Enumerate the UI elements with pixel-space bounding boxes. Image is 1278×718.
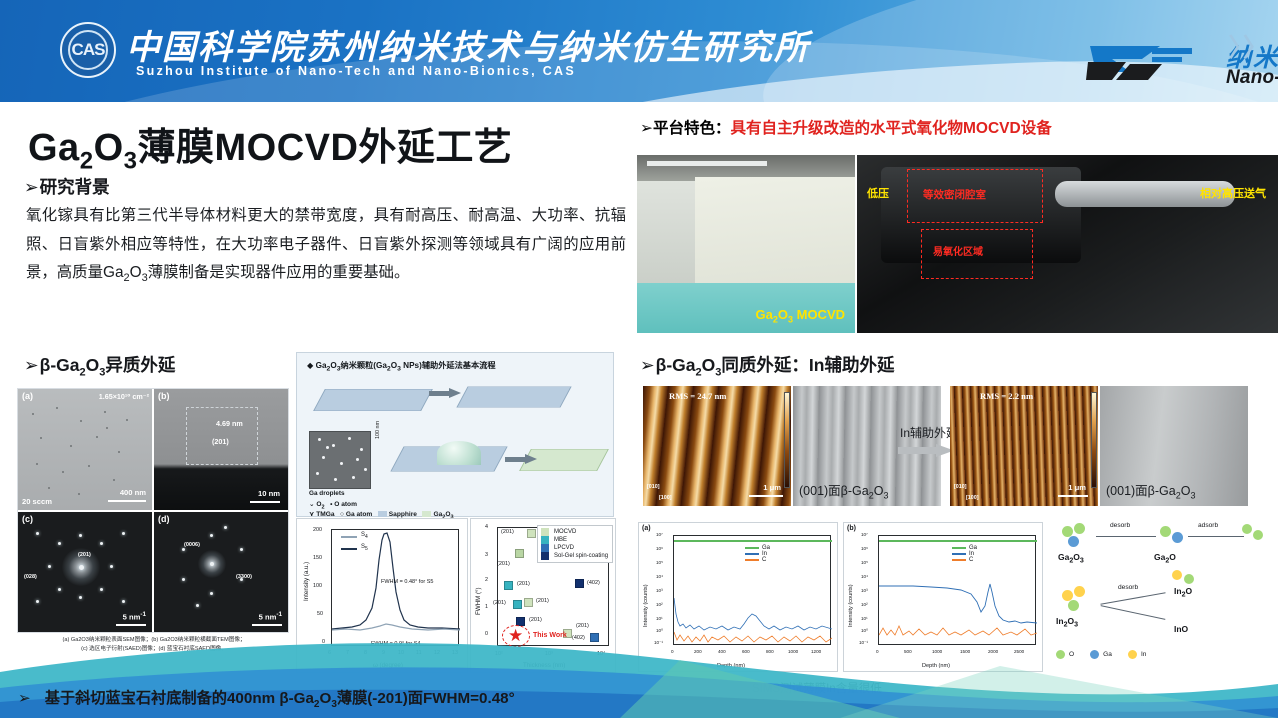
sims-a-xtick-600: 600 (742, 649, 750, 654)
sims-b-xtick-0: 0 (876, 649, 879, 654)
fwhm-point-9-label: (402) (572, 635, 585, 641)
fwhm-point-6-label: (402) (587, 580, 600, 586)
slide-header: CAS 中国科学院苏州纳米技术与纳米仿生研究所 Suzhou Institute… (0, 0, 1278, 102)
afm-after-scale: 1 μm (1068, 483, 1086, 492)
fwhm-legend-lpcvd: LPCVD (554, 545, 574, 551)
xrd-y-axis-label: Intensity (a.u.) (303, 562, 310, 601)
rx-legend-in: In (1141, 651, 1147, 658)
sims-b-ytick-0: 10⁰ (861, 628, 868, 634)
sims-b-legend-c: C (969, 557, 973, 563)
legend-o-atom-label: O atom (334, 501, 357, 508)
sims-chart-b: (b) Intensity (counts) Depth (nm) 10⁷ 10… (843, 522, 1043, 672)
fwhm-point-2-label: (201) (497, 561, 510, 567)
fwhm-legend-mbe: MBE (554, 537, 567, 543)
xrd-xtick-8: 8 (364, 650, 367, 656)
fwhm-ytick-0: 0 (485, 631, 488, 637)
high-pressure-gas-label: 相对高压送气 (1200, 185, 1266, 201)
afm-after-colorbar (1091, 392, 1097, 488)
fwhm-ytick-1: 1 (485, 604, 488, 610)
sims-a-x-label: Depth (nm) (717, 663, 745, 669)
conclusion-part1: 基于斜切蓝宝石衬底制备的400nm β-Ga (45, 690, 314, 707)
section-heading-heteroepitaxy: ➢β-Ga2O3异质外延 (24, 352, 175, 379)
conclusion-arrow-icon: ➢ (18, 690, 31, 707)
rx-label-adsorb: adsorb (1198, 522, 1218, 529)
sims-a-y-label: Intensity (counts) (643, 584, 649, 627)
sims-a-ytick-2: 10² (656, 602, 663, 607)
platform-feature-label: ➢平台特色： (640, 120, 731, 137)
wafer-step-1 (313, 389, 433, 411)
fwhm-xtick-1e4: 10⁴ (597, 651, 605, 657)
afm-image-before: RMS = 24.7 nm [010] [100] 1 μm (643, 386, 791, 506)
homoepitaxy-label: β-Ga2O3同质外延：In辅助外延 (656, 355, 895, 375)
ga-droplets-label: Ga droplets (309, 490, 345, 497)
fwhm-point-3 (504, 581, 513, 590)
fwhm-xtick-1e3: 10³ (545, 651, 553, 657)
afm-before-colorbar (784, 392, 790, 488)
panel-b-plane: (201) (212, 437, 229, 446)
oxidation-zone-label: 易氧化区域 (933, 243, 983, 258)
page-title: Ga2O3薄膜MOCVD外延工艺 (28, 116, 512, 176)
afm-image-after: RMS = 2.2 nm [010] [100] 1 μm (950, 386, 1098, 506)
section-heading-background-label: 研究背景 (40, 177, 110, 197)
panel-a-scalebar (108, 500, 146, 502)
panel-d-scale: 5 nm-1 (259, 611, 282, 622)
sims-a-legend-c: C (762, 557, 766, 563)
fwhm-ytick-3: 3 (485, 552, 488, 558)
bullet-arrow-icon-2: ➢ (24, 355, 39, 375)
section-heading-homoepitaxy: ➢β-Ga2O3同质外延：In辅助外延 (640, 352, 894, 379)
afm-after-dir-h: [100] (966, 495, 979, 501)
fwhm-point-8-label: (201) (576, 623, 589, 629)
afm-before-dir-h: [100] (659, 495, 672, 501)
sealed-chamber-label: 等效密闭腔室 (923, 187, 986, 202)
heteroepitaxy-label: β-Ga2O3异质外延 (40, 355, 176, 375)
legend-o2-icon: ⌄ (309, 501, 315, 508)
xrd-xtick-10: 10 (398, 650, 404, 656)
xrd-x-axis-label: ω (degree) (373, 662, 403, 669)
panel-b-tag: (b) (158, 391, 170, 401)
xrd-annotation-s5: FWHM = 0.48° for S5 (381, 579, 433, 585)
figure-caption: (a) Ga2O3纳米颗粒表面SEM图像；(b) Ga2O3纳米颗粒横截面TEM… (20, 636, 288, 653)
afm-after-rms: RMS = 2.2 nm (980, 391, 1033, 401)
panel-a-tag: (a) (22, 391, 33, 401)
panel-d-index-0006: (0006) (184, 542, 200, 548)
sims-a-ytick-6: 10⁶ (656, 546, 663, 551)
xrd-xtick-7: 7 (346, 650, 349, 656)
sims-b-ytick-7: 10⁷ (861, 532, 868, 537)
rx-node-ga2o: Ga2O (1154, 552, 1176, 565)
afm-before-rms: RMS = 24.7 nm (669, 391, 726, 401)
panel-a-flow: 20 sccm (22, 497, 52, 506)
fwhm-ytick-4: 4 (485, 524, 488, 530)
figure-caption-line2: (c) 选区电子衍射(SAED)图像；(d) 蓝宝石衬底SAED图像。 (20, 645, 288, 654)
schematic-title: ◆ Ga2O3纳米颗粒(Ga2O3 NPs)辅助外延法基本流程 (307, 359, 496, 373)
rx-node-ga2o3: Ga2O3 (1058, 552, 1084, 565)
xrd-rocking-curve-chart: Intensity (a.u.) ω (degree) 200 150 100 … (296, 518, 468, 673)
title-o: O (94, 127, 124, 169)
xrd-xtick-12: 12 (434, 650, 440, 656)
figure-caption-line1: (a) Ga2O3纳米颗粒表面SEM图像；(b) Ga2O3纳米颗粒横截面TEM… (20, 636, 288, 645)
institute-name-en: Suzhou Institute of Nano-Tech and Nano-B… (136, 64, 576, 78)
process-arrow-icon (898, 444, 954, 457)
xrd-xtick-6: 6 (328, 650, 331, 656)
sims-b-ytick-1: 10¹ (861, 616, 868, 621)
sims-chart-a: (a) Intensity (counts) Depth (nm) 10⁷ 10… (638, 522, 838, 672)
rx-label-desorb-2: desorb (1118, 584, 1138, 591)
fwhm-point-3-label: (201) (517, 581, 530, 587)
mocvd-cleanroom-photo: Ga2O3 MOCVD (637, 155, 855, 333)
xrd-ytick-150: 150 (313, 555, 322, 561)
rx-node-in2o3: In2O3 (1056, 616, 1078, 629)
sims-b-xtick-1000: 1000 (932, 649, 942, 654)
np-assisted-epitaxy-schematic: ◆ Ga2O3纳米颗粒(Ga2O3 NPs)辅助外延法基本流程 100 nm G… (296, 352, 614, 517)
sims-b-ytick-4: 10⁴ (861, 574, 868, 579)
legend-ga2o3-label: Ga2O3 (433, 511, 453, 518)
sem-after-label: (001)面β-Ga2O3 (1106, 480, 1195, 501)
mocvd-photo-label: Ga2O3 MOCVD (756, 307, 846, 325)
legend-sapphire-swatch (378, 511, 387, 517)
xrd-ytick-50: 50 (317, 611, 323, 617)
cas-logo-icon: CAS (60, 22, 116, 78)
sims-a-xtick-0: 0 (671, 649, 674, 654)
sims-a-xtick-200: 200 (694, 649, 702, 654)
sims-caption: SIMS测试薄膜In含量很低 (752, 680, 882, 696)
title-sub3: 3 (124, 148, 138, 175)
sims-b-ytick-6: 10⁶ (861, 546, 868, 551)
sims-b-ytick-5: 10⁵ (861, 560, 868, 565)
mocvd-chamber-photo: 低压 等效密闭腔室 易氧化区域 相对高压送气 (857, 155, 1278, 333)
sims-a-panel-tag: (a) (642, 525, 651, 532)
fwhm-point-7-label: (201) (529, 617, 542, 623)
bullet-arrow-icon-3: ➢ (640, 355, 655, 375)
low-pressure-label: 低压 (867, 185, 889, 201)
rx-node-ino: InO (1174, 624, 1188, 634)
panel-c-index-028: (028) (24, 574, 37, 580)
panel-c-tag: (c) (22, 514, 33, 524)
slide-root: CAS 中国科学院苏州纳米技术与纳米仿生研究所 Suzhou Institute… (0, 0, 1278, 718)
panel-b-scale: 10 nm (258, 489, 280, 498)
xrd-legend-s5: S5 (361, 544, 368, 552)
sims-b-ytick-2: 10² (861, 602, 868, 607)
sims-a-ytick-4: 10⁴ (656, 574, 663, 579)
inset-scale-label: 100 nm (375, 421, 381, 439)
sem-image-after: (001)面β-Ga2O3 (1100, 386, 1248, 506)
fwhm-y-axis-label: FWHM (°) (475, 587, 482, 615)
fwhm-x-axis-label: Thickness (nm) (523, 662, 565, 669)
title-sub2: 2 (80, 148, 94, 175)
sims-b-xtick-2500: 2500 (1014, 649, 1024, 654)
chevron-right-icon: 〉〉 (1228, 28, 1270, 64)
sims-a-ytick-m1: 10⁻¹ (654, 640, 663, 646)
legend-o2-label: O2 (316, 501, 324, 508)
sims-a-ytick-3: 10³ (656, 588, 663, 593)
institute-name-cn: 中国科学院苏州纳米技术与纳米仿生研究所 (126, 20, 810, 69)
platform-feature-heading: ➢平台特色：具有自主升级改造的水平式氧化物MOCVD设备 (640, 116, 1052, 138)
rx-node-in2o: In2O (1174, 586, 1192, 599)
schematic-legend-row1: ⌄ O2 • O atom (309, 500, 357, 510)
legend-tmga-icon: ⋎ (309, 511, 314, 518)
saed-panel-c: (c) (201) (028) 5 nm-1 (18, 512, 152, 633)
legend-tmga-label: TMGa (316, 511, 334, 518)
fwhm-point-5-label: (201) (536, 598, 549, 604)
xrd-ytick-100: 100 (313, 583, 322, 589)
sims-b-x-label: Depth (nm) (922, 663, 950, 669)
ga-droplets-inset (309, 431, 371, 489)
xrd-legend-s4: S4 (361, 532, 368, 540)
fwhm-point-1-label: (201) (501, 529, 514, 535)
sem-panel-a: (a) 1.65×10¹⁰ cm⁻² 20 sccm 400 nm (18, 389, 152, 510)
platform-feature-value: 具有自主升级改造的水平式氧化物MOCVD设备 (731, 120, 1052, 137)
rx-legend-o: O (1069, 651, 1074, 658)
fwhm-point-2 (515, 549, 524, 558)
rx-label-desorb-1: desorb (1110, 522, 1130, 529)
sims-a-ytick-5: 10⁵ (656, 560, 663, 565)
legend-sapphire-label: Sapphire (389, 511, 417, 518)
legend-o-atom-icon: • (330, 501, 332, 508)
conclusion-text: ➢基于斜切蓝宝石衬底制备的400nm β-Ga2O3薄膜(-201)面FWHM=… (18, 686, 515, 710)
panel-c-scale: 5 nm-1 (123, 611, 146, 622)
panel-d-tag: (d) (158, 514, 170, 524)
panel-c-index-201: (201) (78, 552, 91, 558)
sem-before-label: (001)面β-Ga2O3 (799, 480, 888, 501)
sims-a-xtick-400: 400 (718, 649, 726, 654)
background-text-ga: Ga (103, 264, 124, 281)
this-work-star-icon: ★ (508, 627, 523, 644)
afm-before-scale: 1 μm (763, 483, 781, 492)
background-text-part2: 薄膜制备是实现器件应用的重要基础。 (148, 264, 410, 281)
sims-a-xtick-1000: 1000 (788, 649, 798, 654)
fwhm-legend-mocvd: MOCVD (554, 529, 576, 535)
sims-b-panel-tag: (b) (847, 525, 856, 532)
tem-panel-b: (b) 4.69 nm (201) 10 nm (154, 389, 288, 510)
fwhm-point-9 (590, 633, 599, 642)
panel-a-density: 1.65×10¹⁰ cm⁻² (99, 392, 149, 401)
xrd-xtick-9: 9 (382, 650, 385, 656)
legend-ga2o3-swatch (422, 511, 431, 517)
facility-name-en: Nano-Fabrication Facility (1226, 67, 1278, 89)
xrd-xtick-11: 11 (416, 650, 422, 656)
sims-b-ytick-3: 10³ (861, 588, 868, 593)
cas-logo-inner: CAS (68, 30, 108, 70)
fwhm-xtick-1e2: 10² (495, 651, 503, 657)
sims-a-ytick-7: 10⁷ (656, 532, 663, 537)
sims-b-xtick-500: 500 (904, 649, 912, 654)
sims-b-ytick-m1: 10⁻¹ (859, 640, 868, 646)
legend-ga-atom-label: Ga atom (346, 511, 372, 518)
sims-b-xtick-2000: 2000 (988, 649, 998, 654)
background-text-o: O (130, 264, 142, 281)
conclusion-part2: O (319, 690, 331, 707)
section-heading-background: ➢研究背景 (24, 174, 110, 199)
fwhm-point-1 (527, 529, 536, 538)
fwhm-legend-solgel: Sol-Gel spin-coating (554, 553, 608, 559)
panel-a-scale: 400 nm (120, 488, 146, 497)
conclusion-part3: 薄膜(-201)面FWHM=0.48° (337, 690, 515, 707)
sims-a-xtick-800: 800 (766, 649, 774, 654)
xrd-annotation-s4: FWHM = 0.9° for S4 (371, 641, 420, 647)
panel-d-index-3300: (3300) (236, 574, 252, 580)
fwhm-ytick-2: 2 (485, 577, 488, 583)
xrd-ytick-200: 200 (313, 527, 322, 533)
sims-a-xtick-1200: 1200 (811, 649, 821, 654)
this-work-label: This Work (533, 632, 567, 639)
bullet-arrow-icon: ➢ (24, 177, 39, 197)
fwhm-point-5 (524, 598, 533, 607)
title-ga: Ga (28, 127, 80, 169)
panel-b-spacing: 4.69 nm (216, 419, 243, 428)
title-rest: 薄膜MOCVD外延工艺 (137, 127, 512, 169)
reaction-mechanism-diagram: Ga2O3 desorb adsorb Ga2O In2O3 desorb In… (1048, 520, 1276, 678)
saed-panel-d: (d) (0006) (3300) 5 nm-1 (154, 512, 288, 633)
sims-b-xtick-1500: 1500 (960, 649, 970, 654)
sims-a-ytick-0: 10⁰ (656, 628, 663, 634)
sem-tem-saed-figure: (a) 1.65×10¹⁰ cm⁻² 20 sccm 400 nm (b) 4.… (17, 388, 289, 633)
afm-before-dir-v: [010] (647, 484, 660, 490)
xrd-ytick-0: 0 (322, 639, 325, 645)
xrd-xtick-13: 13 (452, 650, 458, 656)
afm-after-dir-v: [010] (954, 484, 967, 490)
fwhm-point-6 (575, 579, 584, 588)
background-paragraph: 氧化镓具有比第三代半导体材料更大的禁带宽度，具有耐高压、耐高温、大功率、抗辐照、… (26, 202, 626, 288)
sims-b-y-label: Intensity (counts) (848, 584, 854, 627)
fwhm-point-4 (513, 600, 522, 609)
legend-ga-atom-icon: ○ (340, 511, 344, 518)
sims-a-ytick-1: 10¹ (656, 616, 663, 621)
fwhm-point-4-label: (201) (493, 600, 506, 606)
nff-mark-icon (1086, 42, 1206, 82)
wafer-step-2 (456, 386, 571, 407)
rx-legend-ga: Ga (1103, 651, 1112, 658)
fwhm-thickness-chart: FWHM (°) Thickness (nm) 4 3 2 1 0 10² 10… (470, 518, 616, 673)
droplet-shape (437, 441, 481, 465)
